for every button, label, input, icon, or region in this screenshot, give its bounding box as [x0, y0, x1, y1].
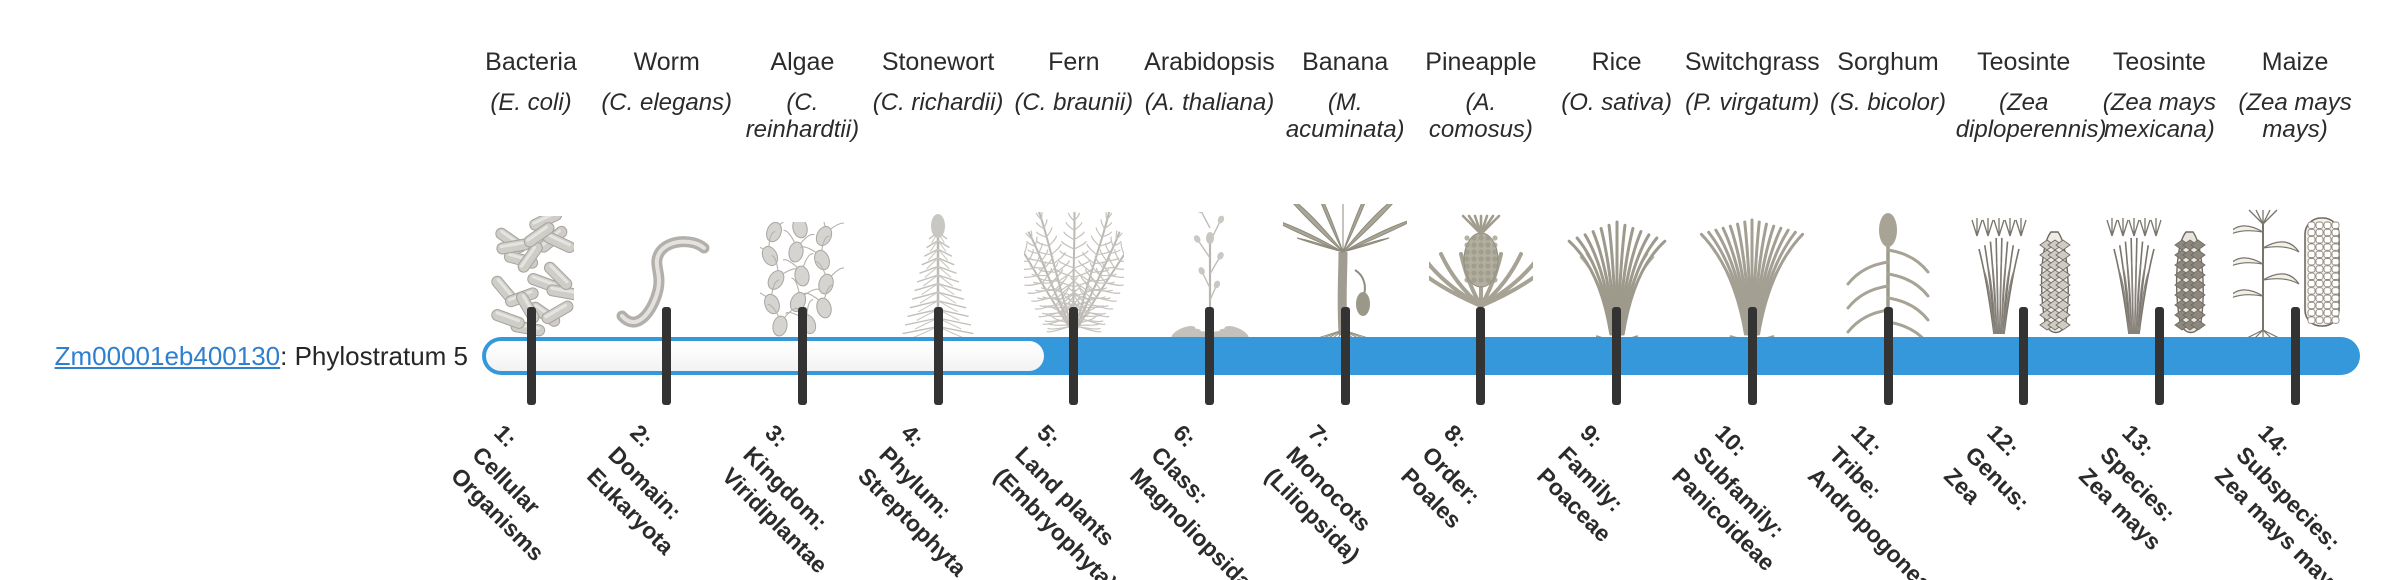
organism-scientific-name: (C. braunii) [1006, 89, 1142, 147]
organism-column-12: Teosinte(Zea diploperennis) [1956, 48, 2092, 147]
phylostratum-label-4[interactable]: 4: Phylum: Streptophyta [851, 418, 1100, 580]
organism-common-name: Rice [1549, 48, 1685, 80]
phylostratum-tick-2[interactable] [662, 307, 671, 405]
phylostratum-tick-8[interactable] [1476, 307, 1485, 405]
organism-column-2: Worm(C. elegans) [599, 48, 735, 147]
phylostratum-value-text: Phylostratum 5 [295, 341, 468, 371]
organism-column-5: Fern(C. braunii) [1006, 48, 1142, 147]
organism-column-3: Algae(C. reinhardtii) [734, 48, 870, 147]
organism-column-4: Stonewort(C. richardii) [870, 48, 1006, 147]
organism-scientific-name: (A. thaliana) [1142, 89, 1278, 147]
gene-phylostratum-label: Zm00001eb400130: Phylostratum 5 [0, 341, 468, 372]
organism-scientific-name: (Zea mays mays) [2227, 89, 2363, 147]
phylostratum-label-12[interactable]: 12: Genus: Zea [1937, 418, 2186, 580]
organism-common-name: Bacteria [463, 48, 599, 80]
organism-scientific-name: (A. comosus) [1413, 89, 1549, 147]
phylostratum-label-8[interactable]: 8: Order: Poales [1394, 418, 1643, 580]
organism-column-7: Banana(M. acuminata) [1277, 48, 1413, 147]
organism-column-10: Switchgrass(P. virgatum) [1684, 48, 1820, 147]
organism-common-name: Banana [1277, 48, 1413, 80]
phylostratum-label-3[interactable]: 3: Kingdom: Viridiplantae [716, 418, 965, 580]
gene-label-separator: : [280, 341, 294, 371]
organism-common-name: Maize [2227, 48, 2363, 80]
phylostratum-tick-9[interactable] [1612, 307, 1621, 405]
phylostratum-bar-unfilled [486, 341, 1044, 371]
phylostratum-tick-4[interactable] [934, 307, 943, 405]
organism-common-name: Teosinte [2091, 48, 2227, 80]
organism-common-name: Stonewort [870, 48, 1006, 80]
organism-common-name: Arabidopsis [1142, 48, 1278, 80]
phylostratum-label-13[interactable]: 13: Species: Zea mays [2073, 418, 2322, 580]
phylostratum-tick-6[interactable] [1205, 307, 1214, 405]
phylostratum-tick-1[interactable] [527, 307, 536, 405]
phylostratum-label-14[interactable]: 14: Subspecies: Zea mays mays [2208, 418, 2400, 580]
organism-scientific-name: (E. coli) [463, 89, 599, 147]
phylostratum-label-2[interactable]: 2: Domain: Eukaryota [580, 418, 829, 580]
phylostratum-tick-3[interactable] [798, 307, 807, 405]
phylostratum-tick-10[interactable] [1748, 307, 1757, 405]
phylostratum-label-5[interactable]: 5: Land plants (Embryophyta) [987, 418, 1236, 580]
organism-scientific-name: (C. richardii) [870, 89, 1006, 147]
organism-column-6: Arabidopsis(A. thaliana) [1142, 48, 1278, 147]
organism-common-name: Switchgrass [1684, 48, 1820, 80]
gene-id-link[interactable]: Zm00001eb400130 [55, 341, 281, 371]
organism-column-13: Teosinte(Zea mays mexicana) [2091, 48, 2227, 147]
phylostratum-tick-13[interactable] [2155, 307, 2164, 405]
organism-column-8: Pineapple(A. comosus) [1413, 48, 1549, 147]
organism-scientific-name: (C. elegans) [599, 89, 735, 147]
phylostratum-label-6[interactable]: 6: Class: Magnoliopsida [1123, 418, 1372, 580]
organism-column-9: Rice(O. sativa) [1549, 48, 1685, 147]
phylostratum-label-10[interactable]: 10: Subfamily: Panicoideae [1665, 418, 1914, 580]
organism-common-name: Fern [1006, 48, 1142, 80]
organism-column-11: Sorghum(S. bicolor) [1820, 48, 1956, 147]
organism-scientific-name: (M. acuminata) [1277, 89, 1413, 147]
organism-scientific-name: (O. sativa) [1549, 89, 1685, 147]
phylostratum-label-7[interactable]: 7: Monocots (Liliopsida) [1258, 418, 1507, 580]
phylostratum-tick-7[interactable] [1341, 307, 1350, 405]
phylostratum-tick-12[interactable] [2019, 307, 2028, 405]
phylostratum-tick-5[interactable] [1069, 307, 1078, 405]
phylostratum-label-1[interactable]: 1: Cellular Organisms [444, 418, 693, 580]
phylostratum-label-9[interactable]: 9: Family: Poaceae [1530, 418, 1779, 580]
phylostratum-bar-track[interactable] [482, 337, 2360, 375]
organism-common-name: Worm [599, 48, 735, 80]
phylostratum-timeline-figure: Zm00001eb400130: Phylostratum 5 Bacteria… [0, 0, 2400, 580]
organism-scientific-name: (Zea mays mexicana) [2091, 89, 2227, 147]
organism-scientific-name: (P. virgatum) [1684, 89, 1820, 147]
organism-scientific-name: (C. reinhardtii) [734, 89, 870, 147]
organism-common-name: Sorghum [1820, 48, 1956, 80]
organism-columns: Bacteria(E. coli)Worm(C. elegans)Algae(C… [0, 0, 2400, 320]
phylostratum-label-11[interactable]: 11: Tribe: Andropogoneae [1801, 418, 2050, 580]
phylostratum-tick-11[interactable] [1884, 307, 1893, 405]
phylostratum-tick-14[interactable] [2291, 307, 2300, 405]
organism-common-name: Pineapple [1413, 48, 1549, 80]
organism-common-name: Algae [734, 48, 870, 80]
organism-scientific-name: (S. bicolor) [1820, 89, 1956, 147]
organism-scientific-name: (Zea diploperennis) [1956, 89, 2092, 147]
organism-common-name: Teosinte [1956, 48, 2092, 80]
organism-column-14: Maize(Zea mays mays) [2227, 48, 2363, 147]
organism-column-1: Bacteria(E. coli) [463, 48, 599, 147]
